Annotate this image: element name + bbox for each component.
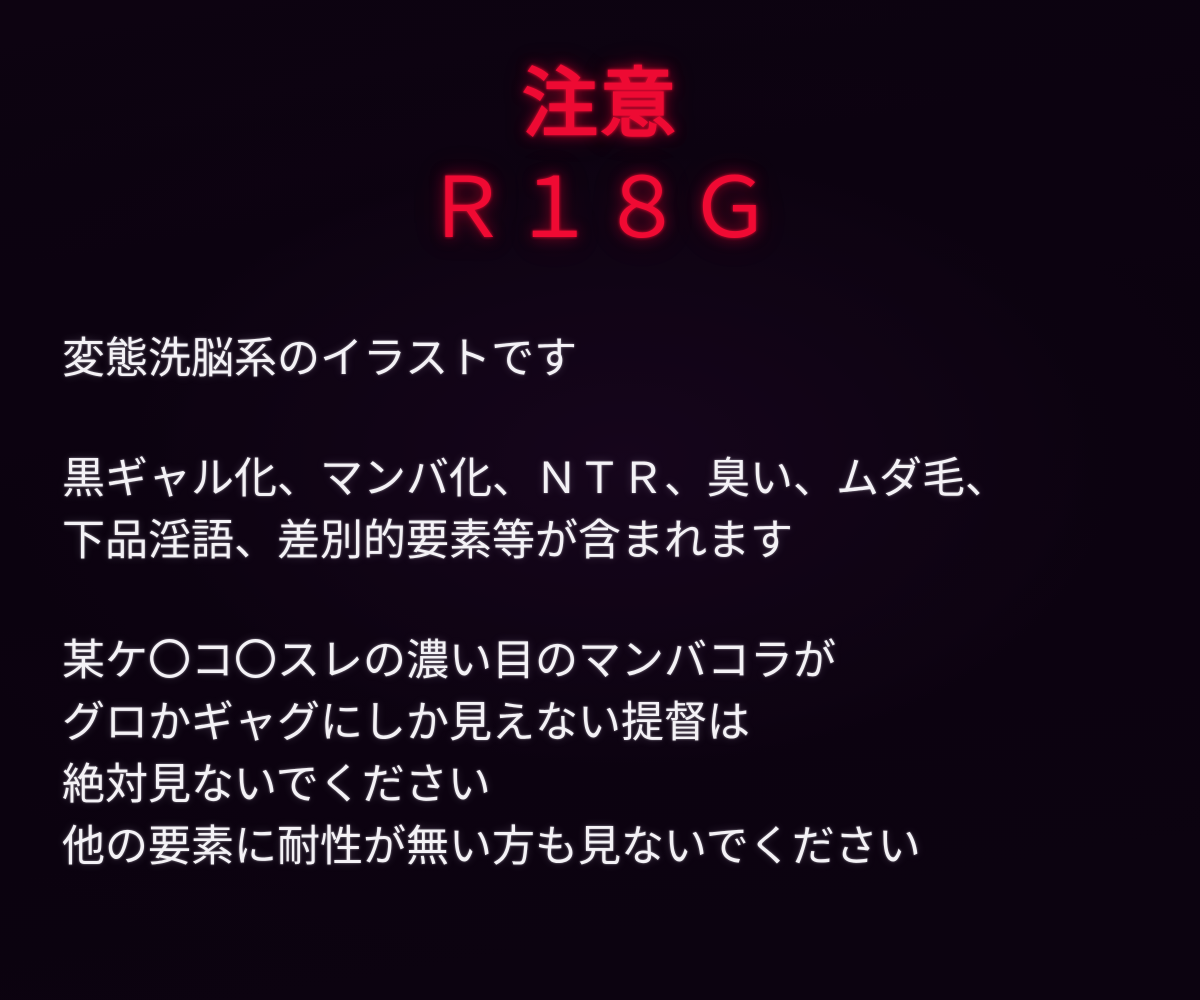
age-rating-heading: Ｒ１８Ｇ [0, 160, 1200, 256]
warning-text-line: 絶対見ないでください [62, 754, 1162, 816]
warning-paragraph: 某ケ〇コ〇スレの濃い目のマンバコラが グロかギャグにしか見えない提督は 絶対見な… [62, 630, 1162, 878]
warning-text-line: 変態洗脳系のイラストです [62, 328, 1162, 390]
warning-text-line: 下品淫語、差別的要素等が含まれます [62, 510, 1162, 572]
warning-paragraph: 変態洗脳系のイラストです [62, 328, 1162, 390]
warning-notice-page: 注意 Ｒ１８Ｇ 変態洗脳系のイラストです 黒ギャル化、マンバ化、ＮＴＲ、臭い、ム… [0, 0, 1200, 1000]
warning-text-line: 某ケ〇コ〇スレの濃い目のマンバコラが [62, 630, 1162, 692]
warning-body-text: 変態洗脳系のイラストです 黒ギャル化、マンバ化、ＮＴＲ、臭い、ムダ毛、 下品淫語… [62, 328, 1162, 878]
caution-heading: 注意 [0, 62, 1200, 146]
warning-text-line: グロかギャグにしか見えない提督は [62, 692, 1162, 754]
warning-header: 注意 Ｒ１８Ｇ [0, 0, 1200, 256]
warning-text-line: 黒ギャル化、マンバ化、ＮＴＲ、臭い、ムダ毛、 [62, 448, 1162, 510]
warning-paragraph: 黒ギャル化、マンバ化、ＮＴＲ、臭い、ムダ毛、 下品淫語、差別的要素等が含まれます [62, 448, 1162, 572]
warning-text-line: 他の要素に耐性が無い方も見ないでください [62, 816, 1162, 878]
